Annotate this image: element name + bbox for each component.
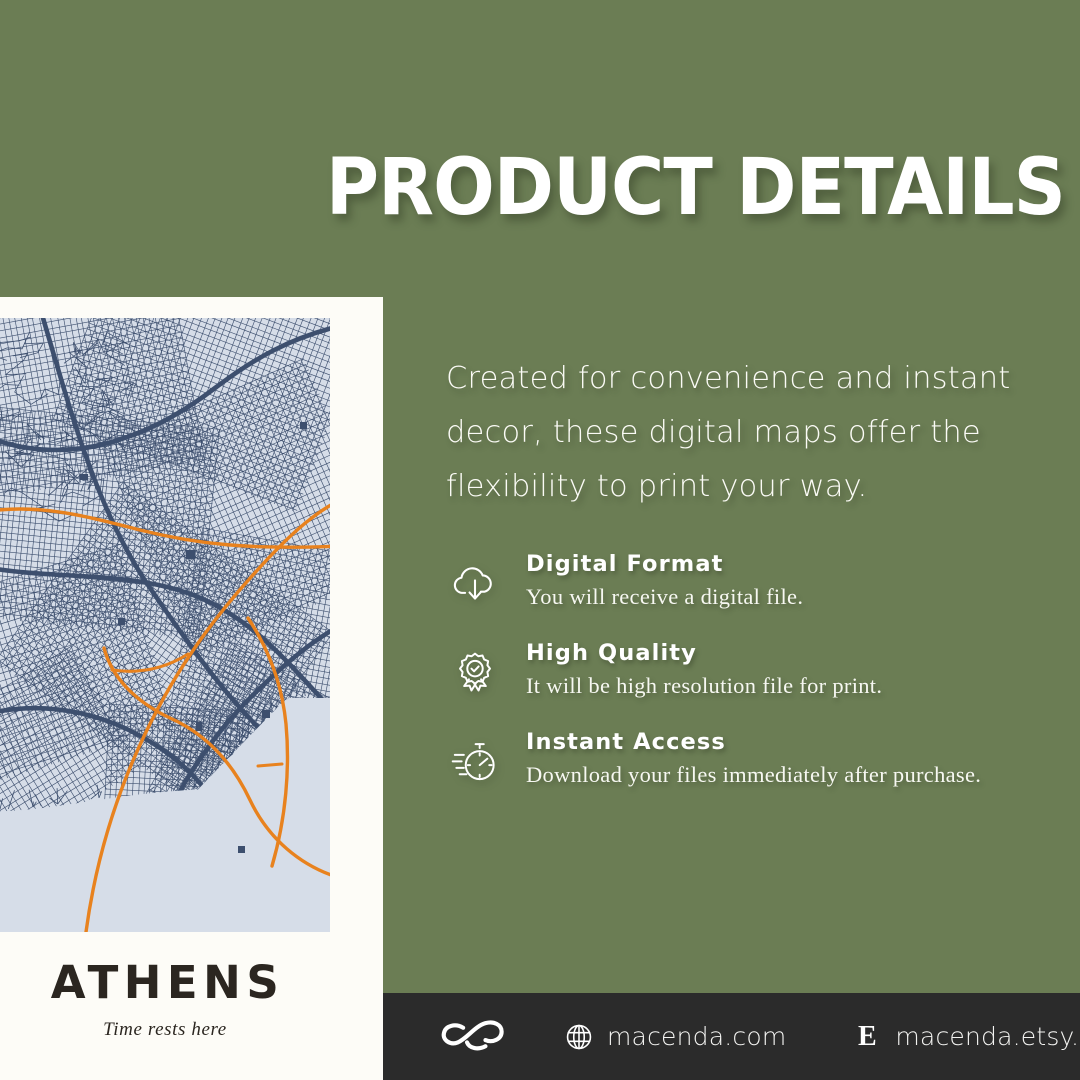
poster-canvas: PRODUCT DETAILS Created for convenience … — [0, 0, 1080, 1080]
footer-bar: macenda.com E macenda.etsy.com — [383, 993, 1080, 1080]
quality-badge-icon — [446, 644, 504, 702]
brand-logo — [440, 1017, 526, 1057]
footer-link-etsy[interactable]: E macenda.etsy.com — [852, 1022, 1080, 1051]
etsy-e-icon: E — [852, 1023, 882, 1051]
feature-description: Download your files immediately after pu… — [526, 759, 1046, 791]
feature-title: Digital Format — [526, 549, 1046, 579]
poster-city-name: ATHENS — [0, 957, 330, 1009]
city-map-image — [0, 318, 330, 932]
feature-description: It will be high resolution file for prin… — [526, 670, 1046, 702]
footer-link-label: macenda.com — [607, 1022, 786, 1051]
footer-link-label: macenda.etsy.com — [895, 1022, 1080, 1051]
feature-item-instant-access: Instant Access Download your files immed… — [446, 727, 1046, 816]
map-vector — [0, 318, 330, 932]
intro-paragraph: Created for convenience and instant deco… — [446, 352, 1016, 514]
poster-tagline: Time rests here — [0, 1019, 330, 1041]
poster-card: ATHENS Time rests here — [0, 297, 383, 1080]
feature-item-high-quality: High Quality It will be high resolution … — [446, 638, 1046, 727]
feature-list: Digital Format You will receive a digita… — [446, 549, 1046, 816]
globe-icon — [564, 1022, 594, 1052]
page-title: PRODUCT DETAILS — [326, 146, 1014, 230]
feature-description: You will receive a digital file. — [526, 581, 1046, 613]
feature-item-digital-format: Digital Format You will receive a digita… — [446, 549, 1046, 638]
infinity-monogram-icon — [440, 1017, 514, 1057]
stopwatch-icon — [446, 733, 504, 791]
feature-title: Instant Access — [526, 727, 1046, 757]
feature-title: High Quality — [526, 638, 1046, 668]
cloud-download-icon — [446, 555, 504, 613]
footer-link-website[interactable]: macenda.com — [564, 1022, 786, 1052]
